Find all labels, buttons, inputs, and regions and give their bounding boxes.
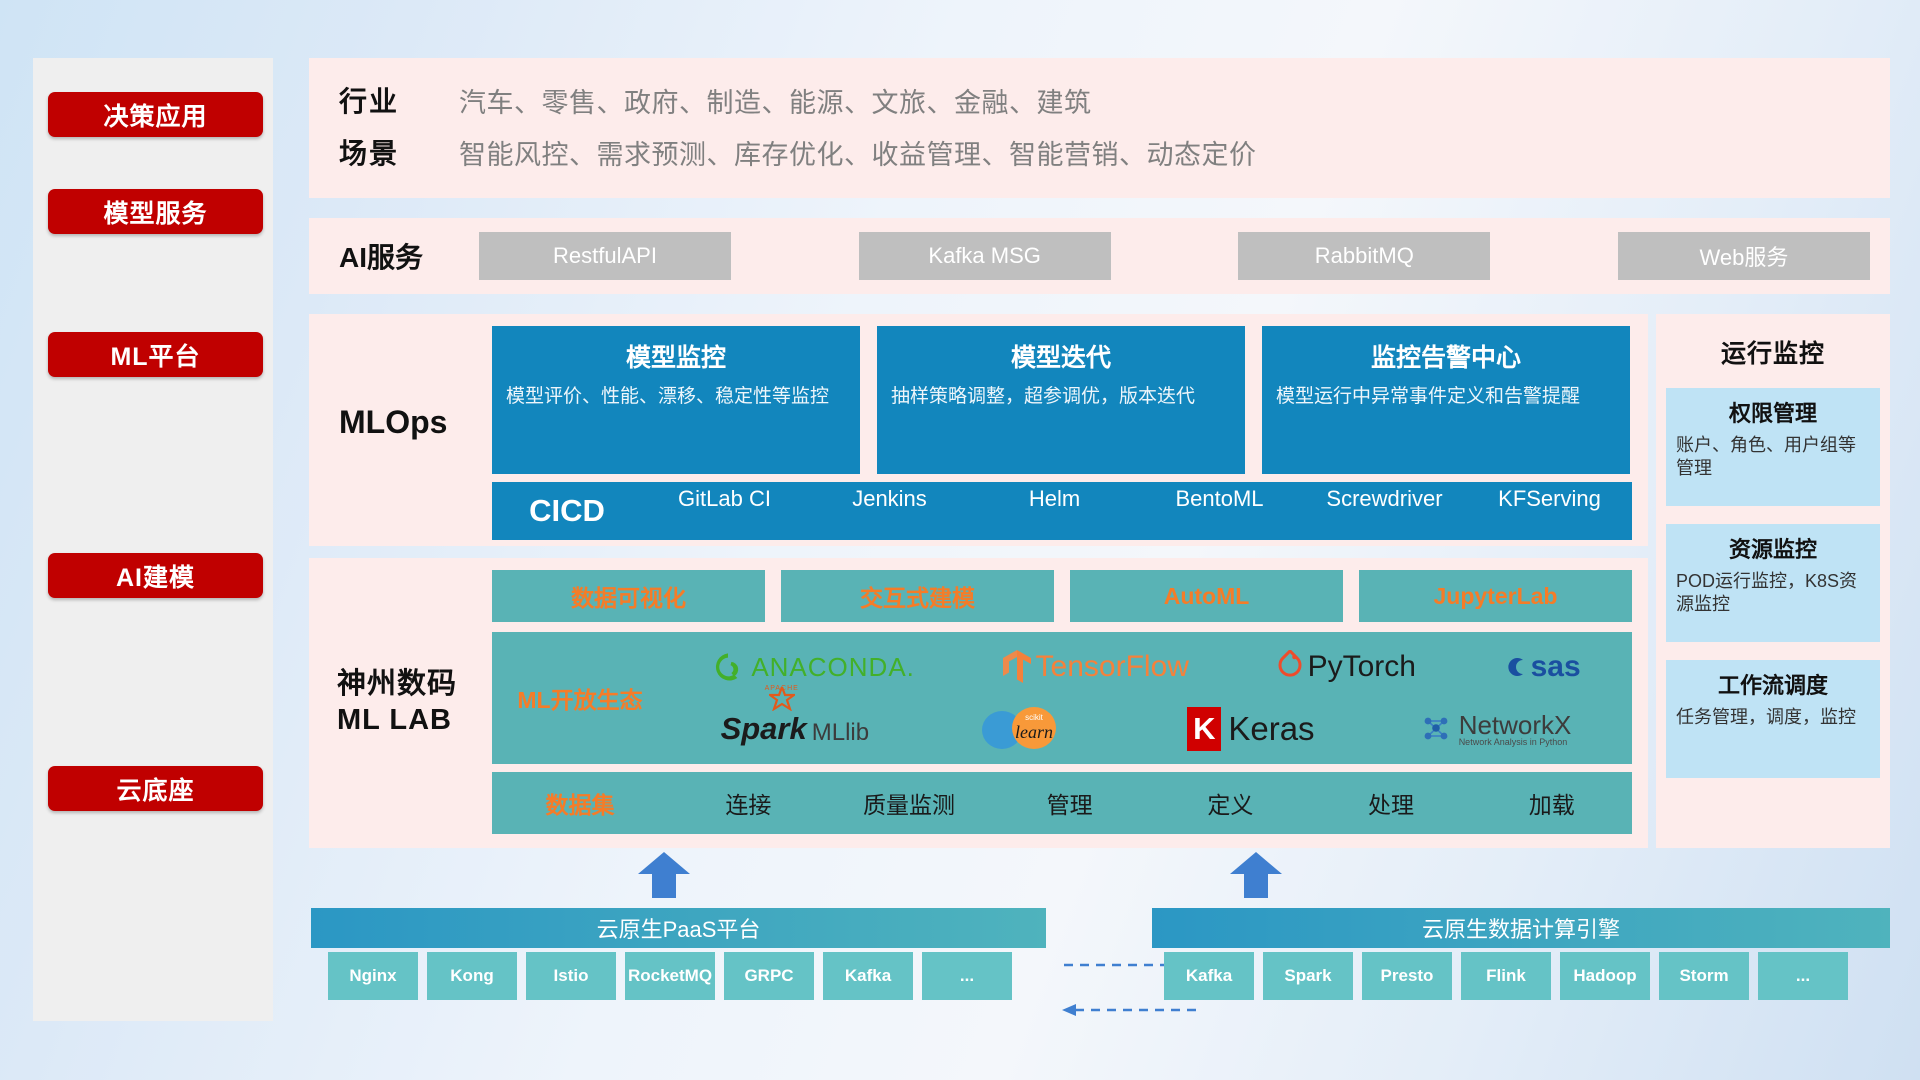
ml-tool-row: 数据可视化 交互式建模 AutoML JupyterLab: [492, 570, 1632, 622]
scikit-learn-icon: scikit learn: [974, 706, 1082, 752]
monitor-box-title: 工作流调度: [1676, 668, 1870, 700]
cicd-item-bentoml[interactable]: BentoML: [1137, 488, 1302, 534]
chip-flink[interactable]: Flink: [1461, 952, 1551, 1000]
monitor-box-title: 资源监控: [1676, 532, 1870, 564]
rail-badge-ai-modeling[interactable]: AI建模: [48, 553, 263, 598]
mlops-card-alert-center[interactable]: 监控告警中心 模型运行中异常事件定义和告警提醒: [1262, 326, 1630, 474]
tensorflow-wordmark: TensorFlow: [1036, 650, 1189, 684]
rail-badge-cloud-base[interactable]: 云底座: [48, 766, 263, 811]
card-title: 模型迭代: [891, 338, 1231, 374]
scenario-text: 智能风控、需求预测、库存优化、收益管理、智能营销、动态定价: [459, 133, 1257, 172]
ml-lab-content: 数据可视化 交互式建模 AutoML JupyterLab ML开放生态: [492, 570, 1632, 834]
ml-lab-label: 神州数码 ML LAB: [337, 666, 457, 739]
industry-label: 行业: [339, 80, 459, 120]
chip-hadoop[interactable]: Hadoop: [1560, 952, 1650, 1000]
service-chip-rabbitmq[interactable]: RabbitMQ: [1238, 232, 1490, 280]
ml-ecosystem-logos: ANACONDA. TensorFlow: [668, 639, 1632, 757]
card-desc: 模型运行中异常事件定义和告警提醒: [1276, 384, 1616, 409]
service-chip-web[interactable]: Web服务: [1618, 232, 1870, 280]
dataset-item-manage[interactable]: 管理: [989, 786, 1150, 820]
monitor-box-title: 权限管理: [1676, 396, 1870, 428]
chip-kafka-engine[interactable]: Kafka: [1164, 952, 1254, 1000]
anaconda-icon: [711, 650, 745, 684]
sas-wordmark: sas: [1531, 650, 1581, 684]
scenario-label: 场景: [339, 132, 459, 172]
dataset-item-process[interactable]: 处理: [1311, 786, 1472, 820]
chip-grpc[interactable]: GRPC: [724, 952, 814, 1000]
cicd-item-helm[interactable]: Helm: [972, 488, 1137, 534]
tool-interactive-modeling[interactable]: 交互式建模: [781, 570, 1054, 622]
ai-service-label: AI服务: [339, 236, 479, 276]
ml-ecosystem-panel: ML开放生态 ANACONDA.: [492, 632, 1632, 764]
networkx-subtitle: Network Analysis in Python: [1459, 738, 1572, 747]
industry-text: 汽车、零售、政府、制造、能源、文旅、金融、建筑: [459, 81, 1092, 120]
anaconda-wordmark: ANACONDA.: [751, 652, 915, 683]
sas-logo: sas: [1503, 650, 1581, 684]
monitor-box-workflow[interactable]: 工作流调度 任务管理，调度，监控: [1666, 660, 1880, 778]
dataset-title: 数据集: [492, 786, 668, 820]
monitor-box-desc: 任务管理，调度，监控: [1676, 706, 1870, 729]
keras-wordmark: Keras: [1228, 710, 1314, 748]
chip-kong[interactable]: Kong: [427, 952, 517, 1000]
card-title: 模型监控: [506, 338, 846, 374]
chip-nginx[interactable]: Nginx: [328, 952, 418, 1000]
keras-logo: K Keras: [1187, 707, 1314, 751]
monitor-box-resources[interactable]: 资源监控 POD运行监控，K8S资源监控: [1666, 524, 1880, 642]
dataset-item-quality[interactable]: 质量监测: [829, 786, 990, 820]
ml-lab-label-line1: 神州数码: [337, 666, 457, 702]
chip-more-paas[interactable]: ...: [922, 952, 1012, 1000]
card-desc: 模型评价、性能、漂移、稳定性等监控: [506, 384, 846, 409]
monitor-box-permissions[interactable]: 权限管理 账户、角色、用户组等管理: [1666, 388, 1880, 506]
monitor-box-desc: POD运行监控，K8S资源监控: [1676, 570, 1870, 617]
mlops-cards: 模型监控 模型评价、性能、漂移、稳定性等监控 模型迭代 抽样策略调整，超参调优，…: [492, 326, 1632, 474]
cloud-data-engine-chips: Kafka Spark Presto Flink Hadoop Storm ..…: [1164, 952, 1890, 1000]
cicd-item-screwdriver[interactable]: Screwdriver: [1302, 488, 1467, 534]
ai-modeling-band: 神州数码 ML LAB 数据可视化 交互式建模 AutoML JupyterLa…: [309, 558, 1648, 848]
ml-lab-label-line2: ML LAB: [337, 702, 457, 738]
monitor-box-desc: 账户、角色、用户组等管理: [1676, 434, 1870, 481]
mlops-label: MLOps: [339, 404, 447, 441]
runtime-monitoring-panel: 运行监控 权限管理 账户、角色、用户组等管理 资源监控 POD运行监控，K8S资…: [1656, 314, 1890, 848]
industry-scenario-band: 行业 汽车、零售、政府、制造、能源、文旅、金融、建筑 场景 智能风控、需求预测、…: [309, 58, 1890, 198]
mlops-card-model-monitoring[interactable]: 模型监控 模型评价、性能、漂移、稳定性等监控: [492, 326, 860, 474]
chip-kafka-paas[interactable]: Kafka: [823, 952, 913, 1000]
scikit-learn-logo: scikit learn: [974, 706, 1082, 752]
ai-service-band: AI服务 RestfulAPI Kafka MSG RabbitMQ Web服务: [309, 218, 1890, 294]
cloud-paas-chips: Nginx Kong Istio RocketMQ GRPC Kafka ...: [328, 952, 1048, 1000]
service-chip-kafka[interactable]: Kafka MSG: [859, 232, 1111, 280]
chip-more-engine[interactable]: ...: [1758, 952, 1848, 1000]
tool-automl[interactable]: AutoML: [1070, 570, 1343, 622]
dataset-row: 数据集 连接 质量监测 管理 定义 处理 加载: [492, 772, 1632, 834]
dataset-item-define[interactable]: 定义: [1150, 786, 1311, 820]
diagram-root: 决策应用 模型服务 ML平台 AI建模 云底座 行业 汽车、零售、政府、制造、能…: [0, 0, 1920, 1080]
card-title: 监控告警中心: [1276, 338, 1616, 374]
chip-presto[interactable]: Presto: [1362, 952, 1452, 1000]
keras-icon: K: [1187, 707, 1221, 751]
scenario-line: 场景 智能风控、需求预测、库存优化、收益管理、智能营销、动态定价: [339, 126, 1890, 178]
mllib-wordmark: MLlib: [812, 719, 869, 747]
chip-spark[interactable]: Spark: [1263, 952, 1353, 1000]
cicd-item-jenkins[interactable]: Jenkins: [807, 488, 972, 534]
mlops-card-model-iteration[interactable]: 模型迭代 抽样策略调整，超参调优，版本迭代: [877, 326, 1245, 474]
sas-icon: [1503, 654, 1529, 680]
networkx-wordmark: NetworkX: [1459, 712, 1572, 738]
cicd-title: CICD: [492, 493, 642, 529]
logo-line-1: ANACONDA. TensorFlow: [668, 639, 1624, 695]
ml-ecosystem-title: ML开放生态: [492, 681, 668, 715]
pytorch-logo: PyTorch: [1276, 650, 1416, 684]
industry-line: 行业 汽车、零售、政府、制造、能源、文旅、金融、建筑: [339, 74, 1890, 126]
cicd-item-gitlab[interactable]: GitLab CI: [642, 488, 807, 534]
chip-rocketmq[interactable]: RocketMQ: [625, 952, 715, 1000]
arrow-up-left-icon: [636, 852, 692, 898]
pytorch-wordmark: PyTorch: [1308, 650, 1416, 684]
cicd-item-kfserving[interactable]: KFServing: [1467, 488, 1632, 534]
logo-line-2: APACHE Spark MLlib: [668, 701, 1624, 757]
cicd-bar: CICD GitLab CI Jenkins Helm BentoML Scre…: [492, 482, 1632, 540]
rail-badge-decision[interactable]: 决策应用: [48, 92, 263, 137]
ai-service-items: RestfulAPI Kafka MSG RabbitMQ Web服务: [479, 232, 1890, 280]
chip-storm[interactable]: Storm: [1659, 952, 1749, 1000]
dataset-item-load[interactable]: 加载: [1471, 786, 1632, 820]
tensorflow-icon: [1002, 649, 1032, 685]
networkx-icon: [1420, 712, 1454, 746]
cloud-paas-bar[interactable]: 云原生PaaS平台: [311, 908, 1046, 948]
spark-wordmark: Spark: [721, 711, 807, 746]
rail-badge-model-service[interactable]: 模型服务: [48, 189, 263, 234]
dataset-item-connect[interactable]: 连接: [668, 786, 829, 820]
networkx-logo: NetworkX Network Analysis in Python: [1420, 712, 1572, 747]
tool-jupyterlab[interactable]: JupyterLab: [1359, 570, 1632, 622]
spark-mllib-logo: APACHE Spark MLlib: [721, 711, 870, 747]
service-chip-restful[interactable]: RestfulAPI: [479, 232, 731, 280]
cloud-data-engine-bar[interactable]: 云原生数据计算引擎: [1152, 908, 1890, 948]
anaconda-logo: ANACONDA.: [711, 650, 915, 684]
tool-data-visualization[interactable]: 数据可视化: [492, 570, 765, 622]
card-desc: 抽样策略调整，超参调优，版本迭代: [891, 384, 1231, 409]
pytorch-icon: [1276, 650, 1304, 684]
svg-text:learn: learn: [1015, 722, 1053, 742]
svg-text:scikit: scikit: [1025, 713, 1044, 722]
runtime-monitoring-title: 运行监控: [1656, 334, 1890, 370]
rail-badge-ml-platform[interactable]: ML平台: [48, 332, 263, 377]
spark-star-icon: [769, 687, 795, 711]
chip-istio[interactable]: Istio: [526, 952, 616, 1000]
arrow-up-right-icon: [1228, 852, 1284, 898]
mlops-band: MLOps 模型监控 模型评价、性能、漂移、稳定性等监控 模型迭代 抽样策略调整…: [309, 314, 1648, 546]
tensorflow-logo: TensorFlow: [1002, 649, 1189, 685]
